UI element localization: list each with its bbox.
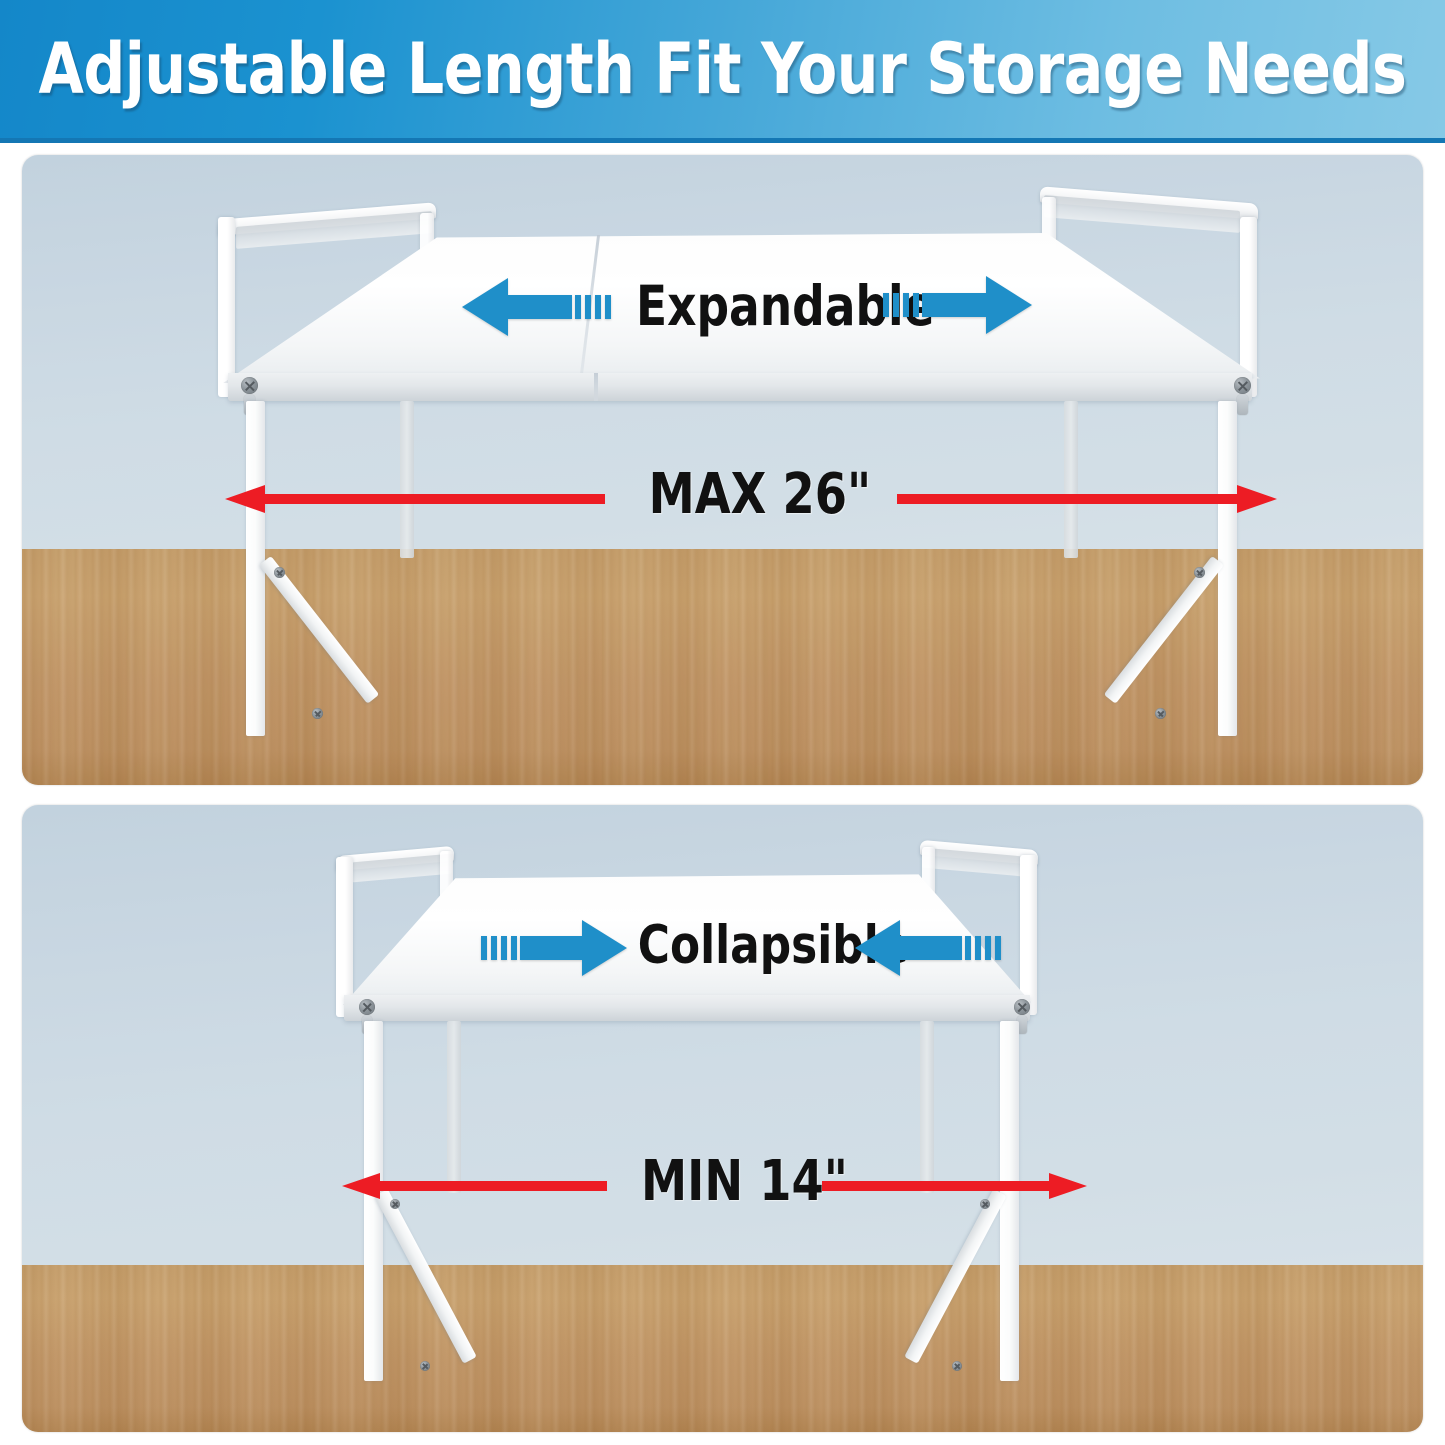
right-rail-front-post bbox=[1020, 855, 1037, 1015]
left-rail-front-post bbox=[336, 857, 353, 1017]
screw-head-icon-brace-right-bottom bbox=[952, 1361, 962, 1371]
wood-table-surface bbox=[22, 1265, 1423, 1432]
arrow-left-icon bbox=[462, 276, 617, 338]
screw-head-icon-brace-left-bottom bbox=[420, 1361, 430, 1371]
leg-rear-left bbox=[447, 1021, 461, 1193]
product-photo-panel-collapsed: Collapsible MIN 14" bbox=[22, 805, 1423, 1432]
wood-table-surface bbox=[22, 549, 1423, 785]
screw-head-icon-brace-left-top bbox=[274, 567, 285, 578]
screw-head-icon-left bbox=[241, 377, 258, 394]
right-adjust-slot bbox=[1237, 395, 1248, 415]
screw-head-icon-brace-left-bottom bbox=[312, 708, 323, 719]
leg-rear-right bbox=[920, 1021, 934, 1193]
double-headed-measure-arrow-icon-left bbox=[225, 482, 605, 516]
shelf-edge-seam bbox=[594, 373, 598, 401]
screw-head-icon-brace-right-top bbox=[1194, 567, 1205, 578]
max-dimension-label: MAX 26" bbox=[649, 462, 872, 527]
double-headed-measure-arrow-icon-right bbox=[897, 482, 1277, 516]
shelf-front-edge bbox=[228, 373, 1252, 401]
leg-rear-right bbox=[1064, 401, 1078, 558]
product-photo-panel-expanded: Expandable MAX 26" bbox=[22, 155, 1423, 785]
screw-head-icon-left bbox=[359, 999, 375, 1015]
double-headed-measure-arrow-icon-left bbox=[342, 1170, 607, 1202]
page-title: Adjustable Length Fit Your Storage Needs bbox=[39, 28, 1407, 110]
leg-rear-left bbox=[400, 401, 414, 558]
double-headed-measure-arrow-icon-right bbox=[822, 1170, 1087, 1202]
arrow-left-icon bbox=[855, 918, 1005, 978]
left-rail-front-post bbox=[218, 217, 235, 397]
shelf-front-edge bbox=[344, 995, 1030, 1021]
arrow-right-icon bbox=[877, 274, 1032, 336]
screw-head-icon-right bbox=[1014, 999, 1030, 1015]
arrow-right-icon bbox=[477, 918, 627, 978]
min-dimension-label: MIN 14" bbox=[641, 1149, 848, 1214]
screw-head-icon-right bbox=[1234, 377, 1251, 394]
screw-head-icon-brace-right-bottom bbox=[1155, 708, 1166, 719]
header-banner: Adjustable Length Fit Your Storage Needs bbox=[0, 0, 1445, 143]
